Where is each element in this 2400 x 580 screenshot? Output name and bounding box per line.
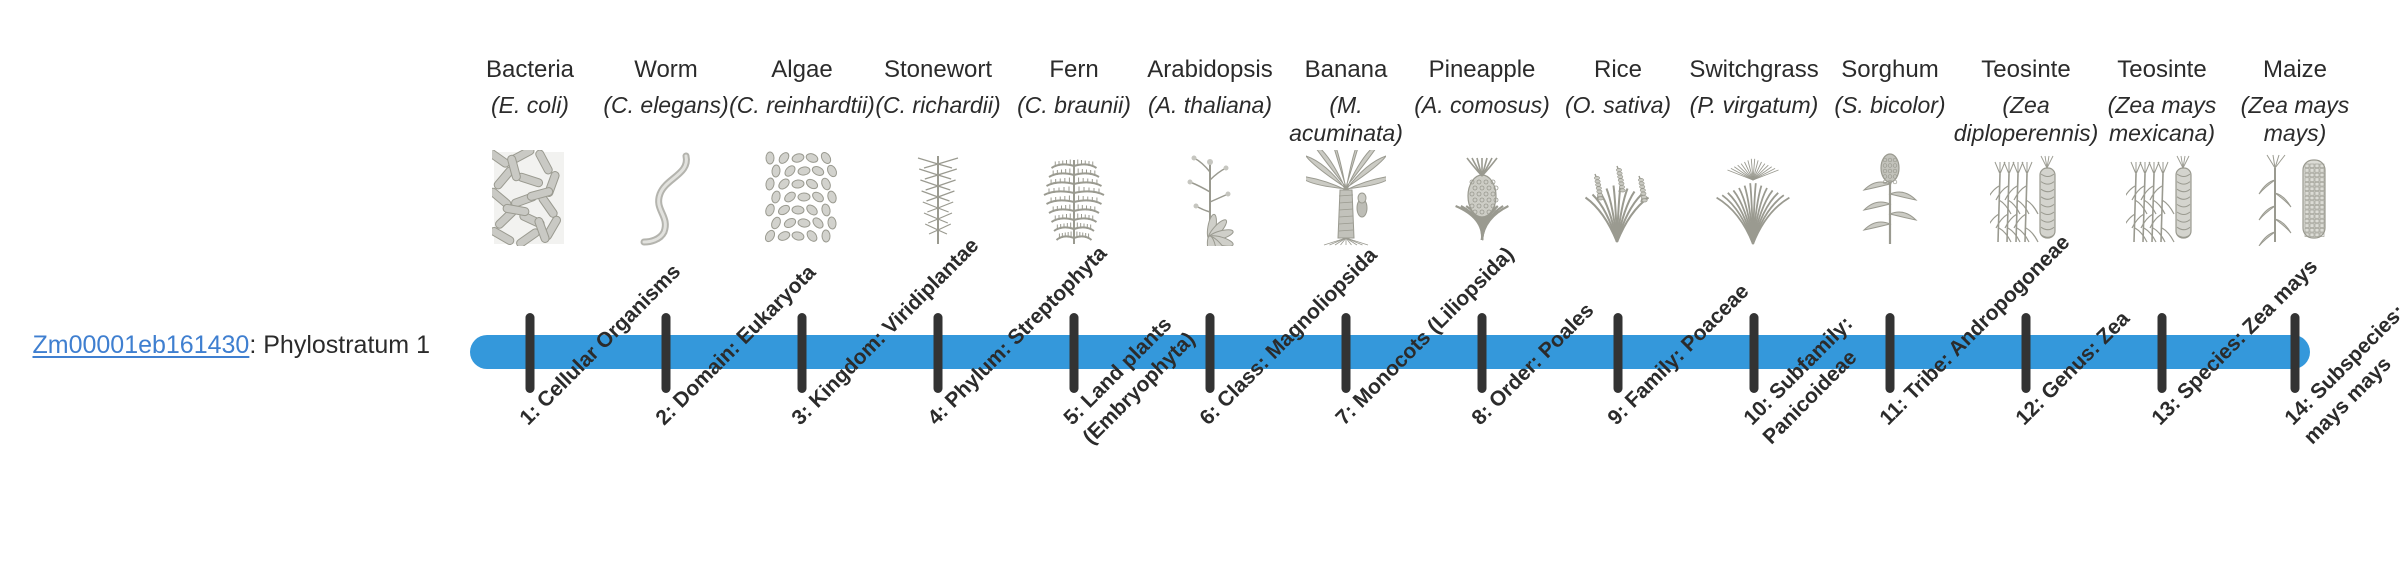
species-common-name: Stonewort [863, 55, 1013, 85]
species-scientific-name: (M. acuminata) [1271, 91, 1421, 147]
species-column: Algae(C. reinhardtii) [727, 55, 877, 246]
timeline-tick[interactable] [934, 313, 943, 393]
bacteria-rods-icon [455, 151, 605, 246]
species-common-name: Worm [591, 55, 741, 85]
phylostratum-value: Phylostratum 1 [263, 331, 430, 359]
species-scientific-name: (Zea mays mays) [2220, 91, 2370, 147]
timeline-tick[interactable] [2158, 313, 2167, 393]
species-common-name: Maize [2220, 55, 2370, 85]
species-column: Teosinte(Zea diploperennis) [1951, 55, 2101, 246]
maize-plant-cob-icon [2220, 151, 2370, 246]
species-scientific-name: (C. richardii) [863, 91, 1013, 147]
species-column: Maize(Zea mays mays) [2220, 55, 2370, 246]
species-common-name: Fern [999, 55, 1149, 85]
species-common-name: Bacteria [455, 55, 605, 85]
algae-cells-icon [727, 151, 877, 246]
species-scientific-name: (C. reinhardtii) [727, 91, 877, 147]
species-scientific-name: (P. virgatum) [1679, 91, 1829, 147]
stonewort-icon [863, 151, 1013, 246]
species-column: Pineapple(A. comosus) [1407, 55, 1557, 246]
species-scientific-name: (E. coli) [455, 91, 605, 147]
timeline-tick[interactable] [1614, 313, 1623, 393]
species-column: Arabidopsis(A. thaliana) [1135, 55, 1285, 246]
timeline-tick[interactable] [1750, 313, 1759, 393]
phylostratum-timeline-figure: Zm00001eb161430: Phylostratum 1 Bacteria… [0, 0, 2400, 580]
species-common-name: Teosinte [1951, 55, 2101, 85]
timeline-tick[interactable] [1070, 313, 1079, 393]
species-column: Fern(C. braunii) [999, 55, 1149, 246]
teosinte-plant-ear-icon [2087, 151, 2237, 246]
fern-frond-icon [999, 151, 1149, 246]
species-common-name: Rice [1543, 55, 1693, 85]
species-common-name: Arabidopsis [1135, 55, 1285, 85]
timeline-tick[interactable] [798, 313, 807, 393]
timeline-tick[interactable] [1478, 313, 1487, 393]
switchgrass-icon [1679, 151, 1829, 246]
species-common-name: Teosinte [2087, 55, 2237, 85]
species-column: Teosinte(Zea mays mexicana) [2087, 55, 2237, 246]
timeline-tick[interactable] [1342, 313, 1351, 393]
species-scientific-name: (O. sativa) [1543, 91, 1693, 147]
gene-label-separator: : [249, 331, 263, 359]
timeline-tick[interactable] [2022, 313, 2031, 393]
species-scientific-name: (Zea mays mexicana) [2087, 91, 2237, 147]
species-scientific-name: (C. braunii) [999, 91, 1149, 147]
species-scientific-name: (Zea diploperennis) [1951, 91, 2101, 147]
timeline-tick[interactable] [526, 313, 535, 393]
teosinte-plant-ear-icon [1951, 151, 2101, 246]
species-scientific-name: (A. thaliana) [1135, 91, 1285, 147]
banana-tree-icon [1271, 151, 1421, 246]
species-column: Rice(O. sativa) [1543, 55, 1693, 246]
pineapple-plant-icon [1407, 151, 1557, 246]
species-scientific-name: (S. bicolor) [1815, 91, 1965, 147]
species-column: Bacteria(E. coli) [455, 55, 605, 246]
species-common-name: Banana [1271, 55, 1421, 85]
species-common-name: Switchgrass [1679, 55, 1829, 85]
species-column: Stonewort(C. richardii) [863, 55, 1013, 246]
nematode-worm-icon [591, 151, 741, 246]
species-common-name: Pineapple [1407, 55, 1557, 85]
species-column: Switchgrass(P. virgatum) [1679, 55, 1829, 246]
species-column: Banana(M. acuminata) [1271, 55, 1421, 246]
arabidopsis-plant-icon [1135, 151, 1285, 246]
species-column: Sorghum(S. bicolor) [1815, 55, 1965, 246]
gene-id-link[interactable]: Zm00001eb161430 [32, 331, 249, 359]
sorghum-plant-icon [1815, 151, 1965, 246]
species-common-name: Algae [727, 55, 877, 85]
species-column: Worm(C. elegans) [591, 55, 741, 246]
species-scientific-name: (C. elegans) [591, 91, 741, 147]
timeline-tick[interactable] [662, 313, 671, 393]
rice-plant-icon [1543, 151, 1693, 246]
species-common-name: Sorghum [1815, 55, 1965, 85]
gene-phylostratum-label: Zm00001eb161430: Phylostratum 1 [0, 330, 430, 360]
timeline-tick[interactable] [2291, 313, 2300, 393]
species-scientific-name: (A. comosus) [1407, 91, 1557, 147]
